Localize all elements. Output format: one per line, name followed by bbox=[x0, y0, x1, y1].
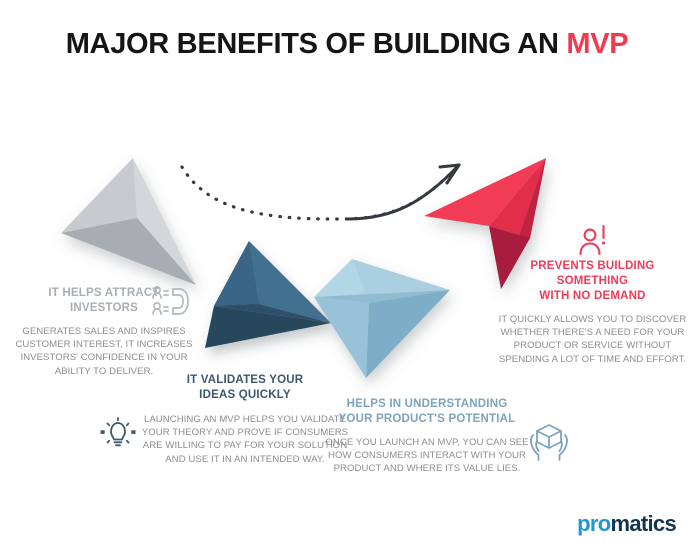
benefit-heading: IT VALIDATES YOUR IDEAS QUICKLY bbox=[140, 373, 350, 403]
light-blue-paper-plane bbox=[314, 259, 450, 378]
benefit-product-potential: HELPS IN UNDERSTANDING YOUR PRODUCT'S PO… bbox=[322, 397, 532, 476]
benefit-body: ONCE YOU LAUNCH AN MVP, YOU CAN SEE HOW … bbox=[322, 436, 532, 476]
promatics-logo: promatics bbox=[577, 512, 676, 536]
logo-pro-text: pro bbox=[577, 511, 610, 536]
page-title-accent: MVP bbox=[566, 28, 628, 60]
dotted-curved-arrow bbox=[182, 165, 459, 219]
logo-matics-text: matics bbox=[610, 511, 676, 536]
grey-paper-plane bbox=[61, 158, 196, 285]
benefit-body: GENERATES SALES AND INSPIRES CUSTOMER IN… bbox=[8, 325, 200, 378]
page-title: MAJOR BENEFITS OF BUILDING AN MVP bbox=[0, 28, 694, 61]
page-title-main: MAJOR BENEFITS OF BUILDING AN bbox=[66, 28, 567, 60]
benefit-heading: PREVENTS BUILDING SOMETHING WITH NO DEMA… bbox=[495, 259, 690, 304]
lightbulb-icon bbox=[98, 412, 138, 452]
dark-blue-paper-plane bbox=[205, 241, 331, 348]
benefit-validates-ideas: IT VALIDATES YOUR IDEAS QUICKLY LAUNCHIN… bbox=[140, 373, 350, 466]
infographic-canvas: MAJOR BENEFITS OF BUILDING AN MVP bbox=[0, 0, 694, 554]
person-with-exclamation-icon bbox=[575, 224, 611, 258]
magnet-attracting-people-icon bbox=[151, 285, 191, 318]
benefit-prevents-no-demand: PREVENTS BUILDING SOMETHING WITH NO DEMA… bbox=[495, 259, 690, 366]
benefit-body: LAUNCHING AN MVP HELPS YOU VALIDATE YOUR… bbox=[140, 413, 350, 466]
benefit-body: IT QUICKLY ALLOWS YOU TO DISCOVER WHETHE… bbox=[495, 313, 690, 366]
benefit-heading: HELPS IN UNDERSTANDING YOUR PRODUCT'S PO… bbox=[322, 397, 532, 427]
cube-in-hands-icon bbox=[529, 421, 569, 463]
